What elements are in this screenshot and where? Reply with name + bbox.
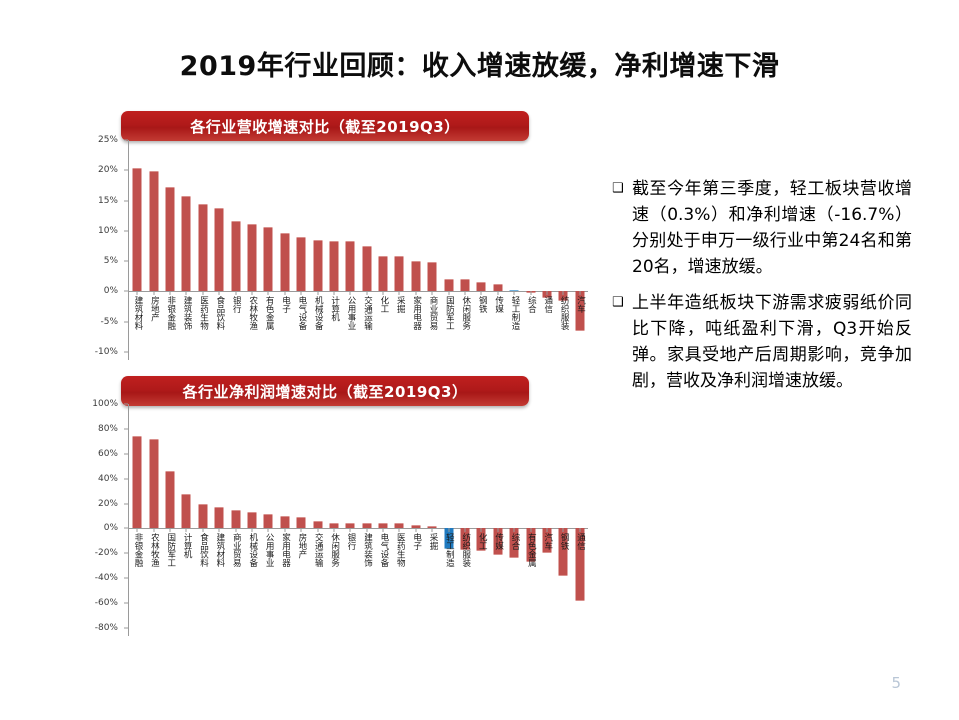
bar-slot: 商业贸易 [227,404,243,636]
x-axis-category-label: 食品饮料 [214,296,224,330]
bar-slot: 建筑装饰 [178,140,194,360]
x-axis-tick-mark [514,528,515,532]
x-axis-category-label: 有色金属 [526,533,536,567]
x-axis-category-label: 医药生物 [395,533,405,567]
page-number: 5 [891,674,901,692]
bar [231,221,240,291]
x-axis-category-label: 计算机 [329,296,339,322]
bar [477,282,486,291]
bullet-item: ❑ 上半年造纸板块下游需求疲弱纸价同比下降，吨纸盈利下滑，Q3开始反弹。家具受地… [612,290,912,394]
bar-slot: 有色金属 [522,404,538,636]
bar-slot: 农林牧渔 [244,140,260,360]
x-axis-tick-mark [235,528,236,532]
bar-slot: 电子 [408,404,424,636]
bar [280,516,289,528]
bar-slot: 医药生物 [195,140,211,360]
bullet-text: 截至今年第三季度，轻工板块营收增速（0.3%）和净利增速（-16.7%）分别处于… [632,176,912,280]
x-axis-category-label: 电气设备 [296,296,306,330]
x-axis-tick-mark [563,528,564,532]
y-axis-tick-mark [124,453,128,454]
bar [461,279,470,291]
chart-profit-bars: 非银金融农林牧渔国防军工计算机食品饮料建筑材料商业贸易机械设备公用事业家用电器房… [129,404,588,636]
bar [198,504,207,529]
x-axis-tick-mark [579,528,580,532]
bar-slot: 银行 [342,404,358,636]
x-axis-tick-mark [383,528,384,532]
bullet-marker-icon: ❑ [612,290,632,394]
x-axis-tick-mark [251,528,252,532]
x-axis-category-label: 房地产 [149,296,159,322]
bar-slot: 通信 [572,404,588,636]
x-axis-tick-mark [235,291,236,295]
left-accent-bar [0,0,16,720]
x-axis-tick-mark [399,528,400,532]
bar [215,507,224,528]
bar-slot: 钢铁 [555,404,571,636]
bar-slot: 食品饮料 [211,140,227,360]
y-axis-tick-mark [124,140,128,141]
bar-slot: 有色金属 [260,140,276,360]
y-axis-tick-mark [124,170,128,171]
y-axis-tick-mark [124,478,128,479]
chart-profit-banner-title: 各行业净利润增速对比（截至2019Q3） [121,376,529,406]
y-axis-tick-mark [124,230,128,231]
bar-slot: 国防军工 [162,404,178,636]
bar [428,262,437,292]
bar [411,261,420,291]
bar-slot: 建筑材料 [211,404,227,636]
x-axis-tick-mark [169,528,170,532]
x-axis-tick-mark [284,528,285,532]
y-axis-tick-mark [124,503,128,504]
bar [247,512,256,528]
x-axis-category-label: 汽车 [542,533,552,550]
page-title: 2019年行业回顾：收入增速放缓，净利增速下滑 [0,44,959,83]
bar [149,171,158,291]
bar [493,284,502,291]
x-axis-tick-mark [333,528,334,532]
x-axis-category-label: 农林牧渔 [149,533,159,567]
bar-slot: 传媒 [490,404,506,636]
y-axis-tick-label: 5% [104,256,118,266]
bar [149,439,158,529]
x-axis-tick-mark [432,291,433,295]
x-axis-category-label: 食品饮料 [198,533,208,567]
x-axis-category-label: 纺织服装 [559,296,569,330]
x-axis-category-label: 采掘 [428,533,438,550]
y-axis-tick-mark [124,291,128,292]
x-axis-category-label: 休闲服务 [329,533,339,567]
bar-slot: 传媒 [490,140,506,360]
y-axis-tick-label: -10% [95,347,118,357]
x-axis-category-label: 家用电器 [411,296,421,330]
bar [133,436,142,528]
x-axis-tick-mark [317,528,318,532]
bar-slot: 农林牧渔 [145,404,161,636]
bar [379,256,388,291]
x-axis-category-label: 国防军工 [165,533,175,567]
bar-slot: 通信 [539,140,555,360]
bullet-list: ❑ 截至今年第三季度，轻工板块营收增速（0.3%）和净利增速（-16.7%）分别… [612,176,912,404]
x-axis-category-label: 国防军工 [444,296,454,330]
x-axis-tick-mark [563,291,564,295]
bar-slot: 机械设备 [244,404,260,636]
x-axis-tick-mark [432,528,433,532]
y-axis-tick-label: 0% [104,523,118,533]
x-axis-category-label: 钢铁 [477,296,487,313]
y-axis-tick-mark [124,428,128,429]
x-axis-category-label: 有色金属 [264,296,274,330]
bar [133,168,142,292]
y-axis-tick-mark [124,553,128,554]
y-axis-tick-label: -20% [95,548,118,558]
x-axis-tick-mark [137,291,138,295]
x-axis-category-label: 银行 [346,533,356,550]
x-axis-category-label: 化工 [477,533,487,550]
y-axis-tick-mark [124,603,128,604]
bar [165,471,174,528]
x-axis-category-label: 公用事业 [264,533,274,567]
x-axis-tick-mark [366,528,367,532]
x-axis-tick-mark [465,291,466,295]
bar-slot: 轻工制造 [440,404,456,636]
x-axis-category-label: 电子 [411,533,421,550]
bar [346,241,355,291]
bar [313,240,322,291]
x-axis-tick-mark [448,528,449,532]
y-axis-tick-label: 10% [98,226,118,236]
x-axis-tick-mark [497,528,498,532]
x-axis-tick-mark [579,291,580,295]
y-axis-tick-label: 60% [98,449,118,459]
bar-slot: 化工 [375,140,391,360]
x-axis-category-label: 汽车 [575,296,585,313]
x-axis-tick-mark [383,291,384,295]
bar [182,196,191,291]
y-axis-tick-label: -80% [95,623,118,633]
bar [395,256,404,291]
bar-slot: 纺织服装 [457,404,473,636]
x-axis-tick-mark [284,291,285,295]
x-axis-category-label: 轻工制造 [509,296,519,330]
bar-slot: 休闲服务 [326,404,342,636]
bar [264,514,273,529]
bar-slot: 综合 [522,140,538,360]
x-axis-category-label: 综合 [509,533,519,550]
bullet-item: ❑ 截至今年第三季度，轻工板块营收增速（0.3%）和净利增速（-16.7%）分别… [612,176,912,280]
x-axis-category-label: 传媒 [493,296,503,313]
x-axis-category-label: 通信 [542,296,552,313]
x-axis-tick-mark [366,291,367,295]
bar-slot: 交通运输 [309,404,325,636]
bar [264,227,273,292]
chart-revenue-bars: 建筑材料房地产非银金融建筑装饰医药生物食品饮料银行农林牧渔有色金属电子电气设备机… [129,140,588,360]
x-axis-category-label: 休闲服务 [460,296,470,330]
bullet-marker-icon: ❑ [612,176,632,280]
x-axis-tick-mark [415,528,416,532]
bar-slot: 计算机 [178,404,194,636]
x-axis-category-label: 轻工制造 [444,533,454,567]
x-axis-category-label: 农林牧渔 [247,296,257,330]
x-axis-category-label: 商业贸易 [428,296,438,330]
x-axis-category-label: 非银金融 [132,533,142,567]
x-axis-tick-mark [219,528,220,532]
y-axis-tick-label: 25% [98,135,118,145]
x-axis-category-label: 化工 [378,296,388,313]
y-axis-tick-mark [124,404,128,405]
bar-slot: 建筑装饰 [359,404,375,636]
y-axis-tick-mark [124,628,128,629]
x-axis-category-label: 通信 [575,533,585,550]
x-axis-tick-mark [186,528,187,532]
bar-slot: 医药生物 [391,404,407,636]
x-axis-tick-mark [448,291,449,295]
x-axis-tick-mark [301,291,302,295]
x-axis-tick-mark [514,291,515,295]
x-axis-category-label: 建筑装饰 [362,533,372,567]
bar [182,494,191,529]
bar-slot: 食品饮料 [195,404,211,636]
x-axis-category-label: 非银金融 [165,296,175,330]
bar-slot: 非银金融 [162,140,178,360]
x-axis-tick-mark [415,291,416,295]
x-axis-category-label: 机械设备 [313,296,323,330]
x-axis-category-label: 机械设备 [247,533,257,567]
bar [198,204,207,292]
bar-slot: 国防军工 [440,140,456,360]
bar-slot: 建筑材料 [129,140,145,360]
x-axis-tick-mark [481,291,482,295]
chart-revenue-plot: 25%20%15%10%5%0%-5%-10% 建筑材料房地产非银金融建筑装饰医… [88,140,588,360]
bar-slot: 机械设备 [309,140,325,360]
bar-slot: 汽车 [572,140,588,360]
bar-slot: 房地产 [145,140,161,360]
y-axis-tick-mark [124,200,128,201]
x-axis-category-label: 建筑材料 [132,296,142,330]
x-axis-category-label: 电子 [280,296,290,313]
x-axis-tick-mark [251,291,252,295]
bar-slot: 采掘 [391,140,407,360]
y-axis-tick-label: 20% [98,499,118,509]
chart-revenue: 25%20%15%10%5%0%-5%-10% 建筑材料房地产非银金融建筑装饰医… [88,140,588,360]
bar-slot: 综合 [506,404,522,636]
y-axis-tick-label: 20% [98,165,118,175]
x-axis-category-label: 纺织服装 [460,533,470,567]
bar [362,246,371,291]
y-axis-tick-label: 100% [92,399,118,409]
bar-slot: 汽车 [539,404,555,636]
chart-profit-plot: 100%80%60%40%20%0%-20%-40%-60%-80% 非银金融农… [88,404,588,636]
x-axis-tick-mark [350,528,351,532]
bar [444,279,453,292]
chart-revenue-banner-title: 各行业营收增速对比（截至2019Q3） [121,111,529,141]
bar [280,233,289,291]
bar-slot: 电气设备 [375,404,391,636]
x-axis-category-label: 商业贸易 [231,533,241,567]
y-axis-tick-mark [124,352,128,353]
x-axis-category-label: 房地产 [296,533,306,559]
bar-slot: 房地产 [293,404,309,636]
x-axis-tick-mark [153,291,154,295]
bullet-text: 上半年造纸板块下游需求疲弱纸价同比下降，吨纸盈利下滑，Q3开始反弹。家具受地产后… [632,290,912,394]
slide: 2019年行业回顾：收入增速放缓，净利增速下滑 各行业营收增速对比（截至2019… [0,0,959,720]
bar-slot: 电气设备 [293,140,309,360]
x-axis-tick-mark [530,291,531,295]
x-axis-category-label: 电气设备 [378,533,388,567]
bar-slot: 轻工制造 [506,140,522,360]
bar-slot: 交通运输 [359,140,375,360]
x-axis-tick-mark [481,528,482,532]
bar [297,237,306,292]
bar [329,241,338,292]
bar-slot: 公用事业 [342,140,358,360]
x-axis-tick-mark [399,291,400,295]
x-axis-category-label: 建筑材料 [214,533,224,567]
x-axis-tick-mark [202,291,203,295]
bar-slot: 家用电器 [277,404,293,636]
y-axis-tick-label: -5% [100,317,118,327]
x-axis-category-label: 交通运输 [362,296,372,330]
bar-slot: 纺织服装 [555,140,571,360]
x-axis-tick-mark [547,291,548,295]
bar-slot: 家用电器 [408,140,424,360]
y-axis-tick-mark [124,528,128,529]
chart-revenue-y-axis: 25%20%15%10%5%0%-5%-10% [88,140,122,360]
bar [297,517,306,528]
y-axis-tick-label: -60% [95,598,118,608]
y-axis-tick-label: 80% [98,424,118,434]
bar-slot: 公用事业 [260,404,276,636]
x-axis-tick-mark [169,291,170,295]
x-axis-tick-mark [153,528,154,532]
x-axis-tick-mark [497,291,498,295]
x-axis-category-label: 综合 [526,296,536,313]
y-axis-tick-mark [124,321,128,322]
x-axis-tick-mark [465,528,466,532]
x-axis-tick-mark [350,291,351,295]
chart-profit: 100%80%60%40%20%0%-20%-40%-60%-80% 非银金融农… [88,404,588,636]
x-axis-category-label: 医药生物 [198,296,208,330]
bar-slot: 商业贸易 [424,140,440,360]
x-axis-tick-mark [219,291,220,295]
x-axis-category-label: 计算机 [182,533,192,559]
bar-slot: 采掘 [424,404,440,636]
x-axis-tick-mark [333,291,334,295]
x-axis-tick-mark [137,528,138,532]
x-axis-category-label: 传媒 [493,533,503,550]
x-axis-tick-mark [186,291,187,295]
x-axis-tick-mark [547,528,548,532]
y-axis-tick-label: 0% [104,286,118,296]
bar [231,510,240,529]
bar-slot: 化工 [473,404,489,636]
x-axis-category-label: 家用电器 [280,533,290,567]
bar [165,187,174,292]
bar-slot: 钢铁 [473,140,489,360]
x-axis-category-label: 采掘 [395,296,405,313]
bar-slot: 非银金融 [129,404,145,636]
bar [313,521,322,528]
bar-slot: 休闲服务 [457,140,473,360]
x-axis-category-label: 建筑装饰 [182,296,192,330]
x-axis-tick-mark [530,528,531,532]
y-axis-tick-mark [124,261,128,262]
y-axis-tick-label: 15% [98,196,118,206]
bar [247,224,256,292]
y-axis-tick-mark [124,578,128,579]
x-axis-tick-mark [268,291,269,295]
bar-slot: 银行 [227,140,243,360]
x-axis-category-label: 钢铁 [559,533,569,550]
x-axis-tick-mark [317,291,318,295]
bar [215,208,224,291]
y-axis-tick-label: -40% [95,573,118,583]
x-axis-tick-mark [202,528,203,532]
bar-slot: 计算机 [326,140,342,360]
y-axis-tick-label: 40% [98,474,118,484]
x-axis-category-label: 银行 [231,296,241,313]
x-axis-tick-mark [301,528,302,532]
x-axis-category-label: 公用事业 [346,296,356,330]
chart-profit-y-axis: 100%80%60%40%20%0%-20%-40%-60%-80% [88,404,122,636]
bar-slot: 电子 [277,140,293,360]
x-axis-tick-mark [268,528,269,532]
x-axis-category-label: 交通运输 [313,533,323,567]
